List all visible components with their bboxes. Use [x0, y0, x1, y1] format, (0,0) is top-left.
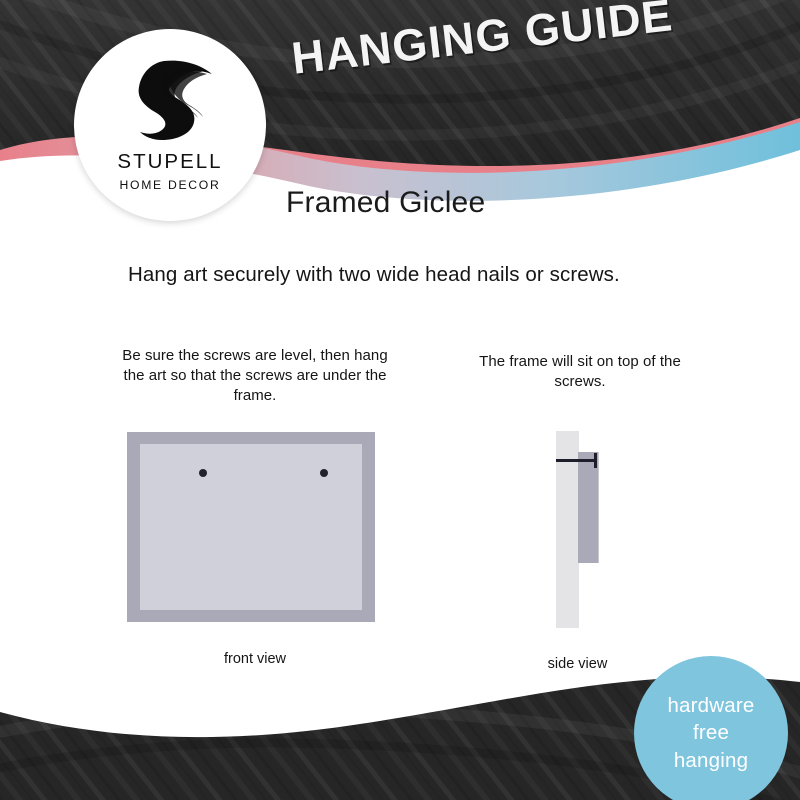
screw-dot-right-icon	[320, 469, 328, 477]
page-title: HANGING GUIDE	[289, 0, 676, 85]
badge-line-3: hanging	[674, 747, 748, 774]
hanging-guide-page: HANGING GUIDE STUPELL HOME DECOR Framed …	[0, 0, 800, 800]
side-view-caption: The frame will sit on top of the screws.	[465, 352, 695, 392]
side-view-label: side view	[495, 656, 660, 672]
lead-instruction-text: Hang art securely with two wide head nai…	[128, 263, 620, 287]
logo-tagline: HOME DECOR	[120, 179, 221, 191]
brand-logo-badge: STUPELL HOME DECOR	[74, 29, 266, 221]
front-view-artwork-area	[140, 444, 362, 610]
front-view-frame-diagram	[127, 432, 375, 622]
side-view-diagram	[556, 431, 626, 628]
badge-line-2: free	[693, 719, 729, 746]
hardware-free-hanging-badge: hardware free hanging	[634, 656, 788, 800]
screw-shaft-icon	[556, 459, 596, 462]
product-type-heading: Framed Giclee	[286, 186, 485, 220]
screw-dot-left-icon	[199, 469, 207, 477]
stupell-swoosh-icon	[120, 55, 220, 143]
screw-head-icon	[594, 453, 597, 468]
badge-line-1: hardware	[667, 692, 754, 719]
front-view-caption: Be sure the screws are level, then hang …	[120, 346, 390, 406]
side-view-frame-slab	[578, 452, 599, 563]
logo-brand-name: STUPELL	[117, 152, 222, 173]
front-view-label: front view	[150, 651, 360, 667]
